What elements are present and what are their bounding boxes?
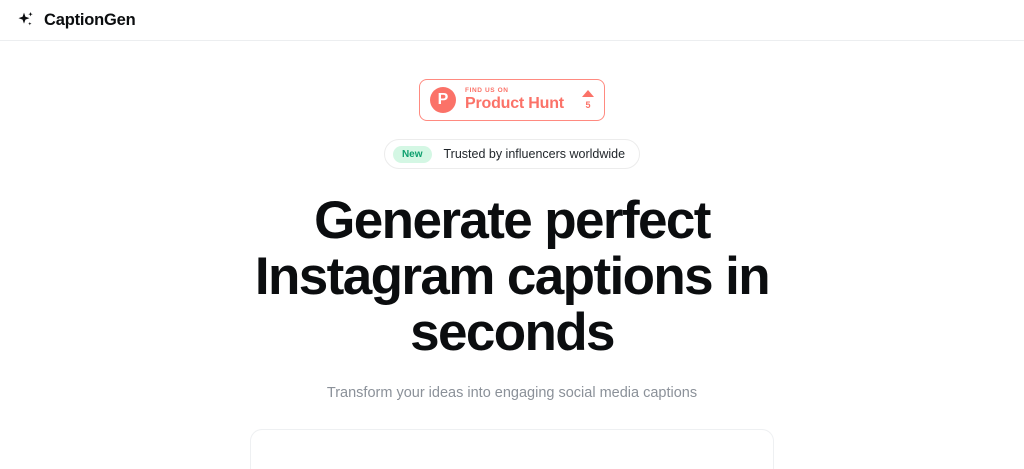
product-hunt-text: FIND US ON Product Hunt xyxy=(465,87,576,113)
sparkles-icon xyxy=(16,10,36,30)
product-hunt-badge[interactable]: P FIND US ON Product Hunt 5 xyxy=(419,79,605,121)
generator-panel xyxy=(250,429,774,469)
product-hunt-vote-count: 5 xyxy=(585,100,590,111)
site-header: CaptionGen xyxy=(0,0,1024,41)
hero-section: P FIND US ON Product Hunt 5 New Trusted … xyxy=(0,41,1024,469)
page-title: Generate perfect Instagram captions in s… xyxy=(232,193,792,362)
brand-name: CaptionGen xyxy=(44,12,136,29)
product-hunt-title: Product Hunt xyxy=(465,95,576,113)
product-hunt-kicker: FIND US ON xyxy=(465,87,576,94)
product-hunt-upvote[interactable]: 5 xyxy=(582,90,594,111)
status-badge-new: New xyxy=(393,146,432,163)
upvote-triangle-icon xyxy=(582,90,594,97)
product-hunt-logo-letter: P xyxy=(438,92,449,108)
brand-logo-link[interactable]: CaptionGen xyxy=(16,10,136,30)
trust-pill[interactable]: New Trusted by influencers worldwide xyxy=(384,139,640,169)
page-subtitle: Transform your ideas into engaging socia… xyxy=(327,384,697,403)
trust-pill-label: Trusted by influencers worldwide xyxy=(444,148,626,161)
product-hunt-logo-icon: P xyxy=(430,87,456,113)
